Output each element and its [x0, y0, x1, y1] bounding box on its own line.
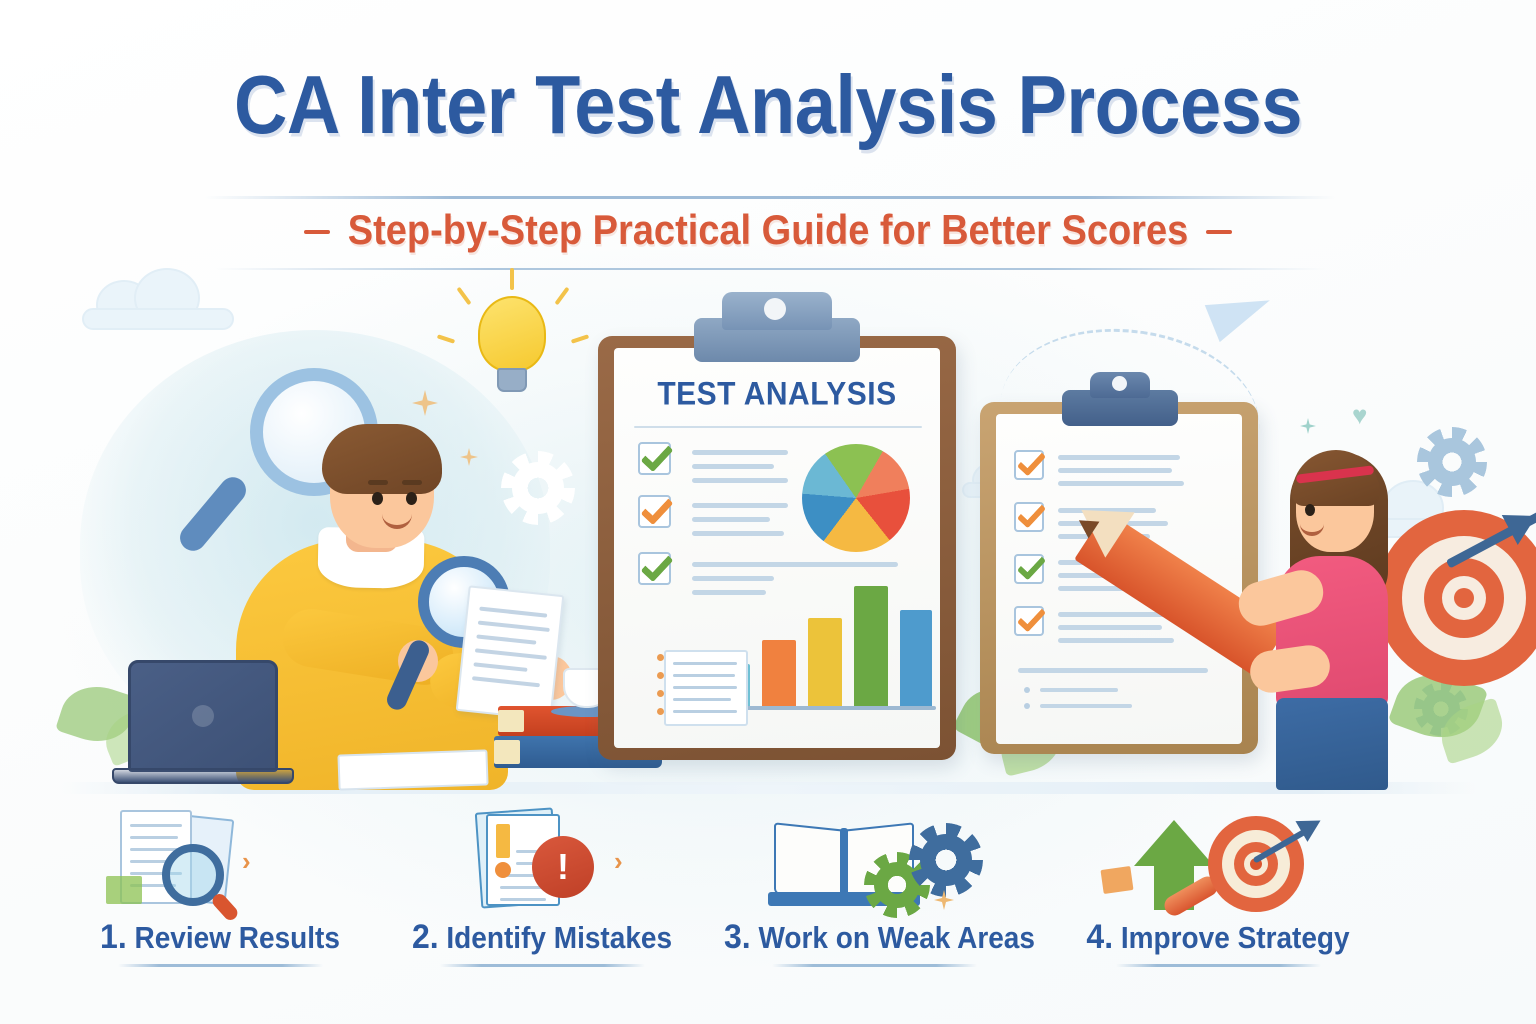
male-student-eye [372, 492, 383, 505]
target-bullseye [1454, 588, 1474, 608]
checkbox[interactable] [1014, 502, 1044, 532]
gear-icon [1428, 438, 1476, 486]
step-text: Work on Weak Areas [758, 921, 1034, 954]
book-pages [498, 710, 524, 732]
text-line [692, 531, 784, 536]
male-student-brow [368, 480, 388, 485]
check-icon [1017, 603, 1046, 633]
male-student-eye [406, 492, 417, 505]
alert-icon: ! [532, 836, 594, 898]
text-line [692, 478, 788, 483]
lightbulb-ray [510, 268, 514, 290]
lightbulb-base [497, 368, 527, 392]
spiral-dot [657, 708, 664, 715]
checkbox[interactable] [638, 442, 671, 475]
gear-icon [512, 462, 564, 514]
checkbox[interactable] [638, 495, 671, 528]
step-label: 4. Improve Strategy [1068, 917, 1368, 957]
book-spine [840, 828, 848, 900]
step-underline [772, 964, 977, 967]
book-left-page [774, 822, 844, 901]
step-text: Identify Mistakes [446, 921, 672, 954]
infographic-canvas: CA Inter Test Analysis Process Step-by-S… [0, 0, 1536, 1024]
exclamation-dot [495, 862, 511, 878]
step-label: 3. Work on Weak Areas [724, 917, 1024, 957]
checkbox[interactable] [1014, 554, 1044, 584]
step-underline [440, 964, 645, 967]
cloud-icon [78, 268, 238, 330]
check-icon [641, 492, 674, 526]
text-line [692, 450, 788, 455]
male-student-brow [402, 480, 422, 485]
subtitle-dash-left [304, 230, 330, 234]
document-with-exclamation-icon: ! › [392, 800, 692, 918]
heart-icon: ♥ [1352, 400, 1367, 431]
lightbulb-ray [555, 287, 570, 306]
text-line [1058, 625, 1162, 630]
bullet-dot [1024, 703, 1030, 709]
checkbox[interactable] [1014, 450, 1044, 480]
laptop-logo [192, 705, 214, 727]
spiral-dot [657, 654, 664, 661]
subtitle-dash-right [1206, 230, 1232, 234]
subtitle-row: Step-by-Step Practical Guide for Better … [0, 210, 1536, 253]
sticky-note-icon [1100, 866, 1133, 894]
check-icon [1017, 447, 1046, 477]
check-icon [641, 549, 674, 583]
text-line [1058, 468, 1172, 473]
spiral-dot [657, 690, 664, 697]
page-subtitle: Step-by-Step Practical Guide for Better … [348, 208, 1188, 255]
bar [762, 640, 796, 706]
text-line [1058, 481, 1184, 486]
gear-icon [920, 834, 972, 886]
text-line [1058, 455, 1180, 460]
bar [854, 586, 888, 706]
check-icon [1017, 551, 1046, 581]
documents-with-magnifier-icon: › [70, 800, 370, 918]
step-underline [1116, 964, 1321, 967]
female-student-jeans [1276, 698, 1388, 790]
open-book-with-gears-icon [724, 800, 1024, 918]
subtitle-divider [215, 268, 1325, 270]
main-clipboard-clip-hole [764, 298, 786, 320]
sparkle-icon [1300, 418, 1316, 434]
text-line [1018, 668, 1208, 673]
document-shadow [106, 876, 142, 904]
spiral-dot [657, 672, 664, 679]
lightbulb-ray [571, 334, 589, 343]
step-text: Review Results [135, 921, 340, 954]
pie-chart [802, 444, 910, 552]
book-pages [494, 740, 520, 764]
text-line [692, 503, 788, 508]
text-line [692, 562, 898, 567]
step-item[interactable]: 4. Improve Strategy [1068, 800, 1368, 967]
text-line [1058, 638, 1174, 643]
checkbox[interactable] [1014, 606, 1044, 636]
accent-arrow-icon: › [242, 846, 251, 877]
check-icon [641, 439, 674, 473]
laptop-screen [128, 660, 278, 772]
bar [808, 618, 842, 706]
desk-paper [337, 749, 488, 790]
main-clipboard-title: TEST ANALYSIS [614, 377, 940, 414]
page-title: CA Inter Test Analysis Process [0, 57, 1536, 152]
target-with-up-arrow-icon [1068, 800, 1368, 918]
step-text: Improve Strategy [1121, 921, 1350, 954]
female-student-eye [1305, 504, 1315, 516]
step-item[interactable]: › 1. Review Results [70, 800, 370, 967]
step-label: 1. Review Results [70, 917, 370, 957]
text-line [692, 590, 766, 595]
exclamation-bar [496, 824, 510, 858]
up-arrow-icon [1134, 820, 1214, 866]
bullet-dot [1024, 687, 1030, 693]
lightbulb-ray [437, 334, 455, 343]
text-line [692, 517, 770, 522]
text-line [692, 576, 774, 581]
title-divider [205, 196, 1335, 199]
laptop-base [112, 768, 294, 784]
text-line [1040, 704, 1132, 708]
text-line [1040, 688, 1118, 692]
step-number: 2. [412, 917, 439, 956]
step-label: 2. Identify Mistakes [392, 917, 692, 957]
lightbulb-icon [478, 296, 546, 372]
step-number: 3. [724, 917, 751, 956]
side-clipboard-clip-hole [1112, 376, 1127, 391]
held-document [456, 585, 565, 720]
accent-arrow-icon: › [614, 846, 623, 877]
steps-row: › › › › 1. Review Results [0, 800, 1536, 1000]
mini-note [664, 650, 748, 726]
check-icon [1017, 499, 1046, 529]
step-number: 4. [1086, 917, 1113, 956]
paper-plane-icon [1205, 282, 1277, 342]
bar [900, 610, 932, 706]
step-underline [118, 964, 323, 967]
checkbox[interactable] [638, 552, 671, 585]
text-line [692, 464, 774, 469]
step-number: 1. [100, 917, 127, 956]
lightbulb-ray [457, 287, 472, 306]
step-item[interactable]: ! › 2. Identify Mistakes [392, 800, 692, 967]
step-item[interactable]: 3. Work on Weak Areas [724, 800, 1024, 967]
main-clipboard-title-rule [634, 426, 922, 428]
